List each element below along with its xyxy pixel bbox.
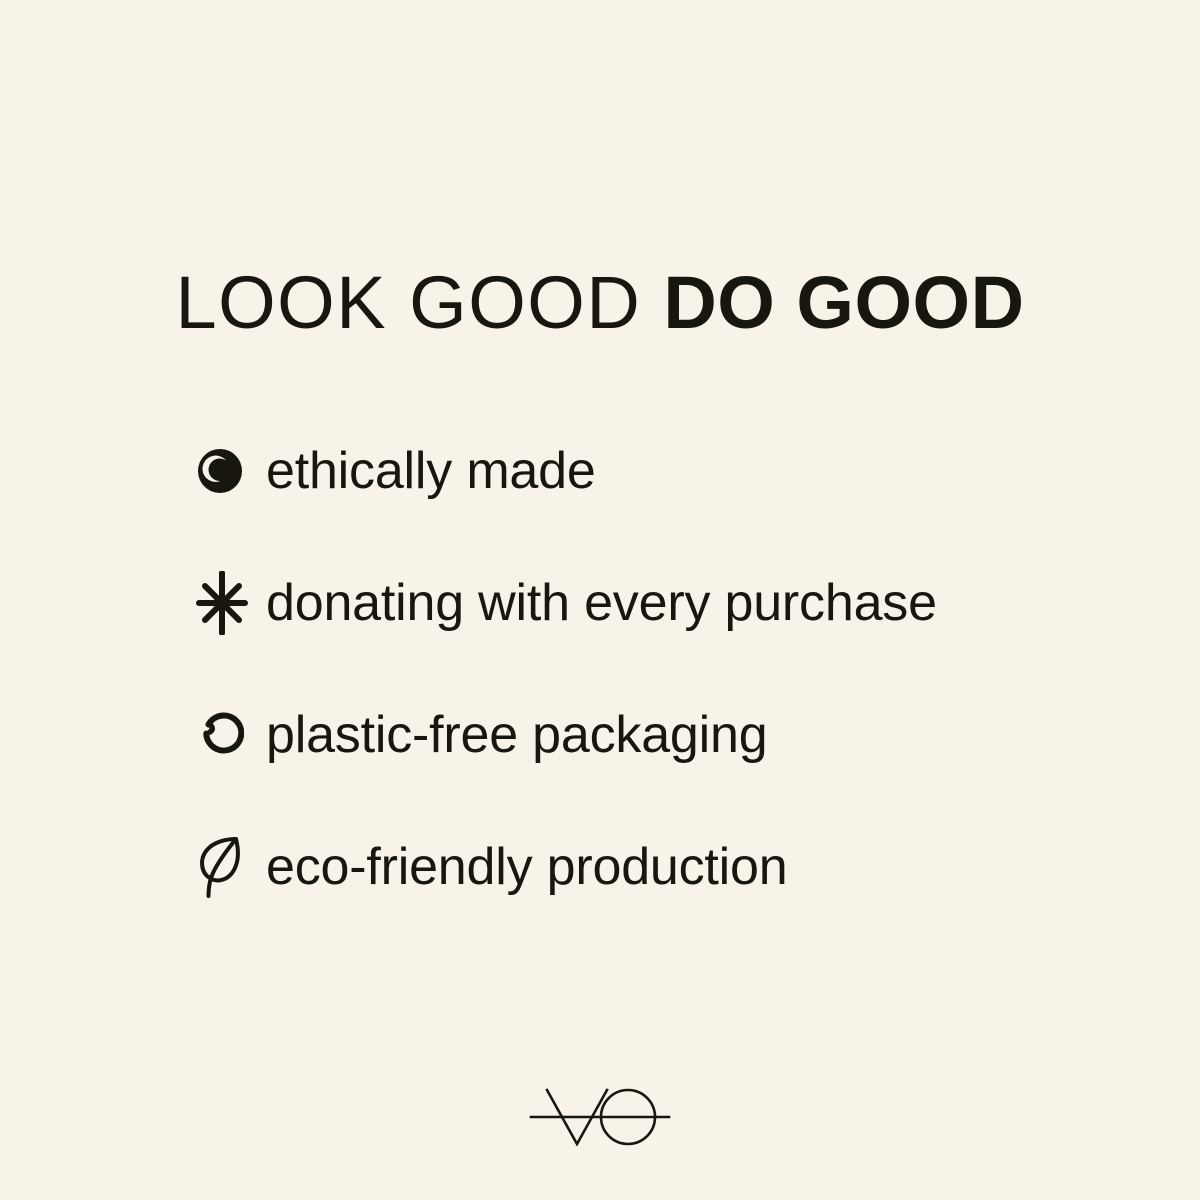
page-title-bold: DO GOOD	[663, 261, 1024, 344]
list-item-label: ethically made	[266, 440, 596, 502]
sparkle-asterisk-icon	[196, 572, 258, 634]
feature-list: ethically made donating with every purch…	[196, 405, 1076, 933]
list-item: ethically made	[196, 405, 1076, 537]
page-title: LOOK GOOD DO GOOD	[0, 258, 1200, 348]
filled-circle-crescent-icon	[196, 440, 258, 502]
list-item: plastic-free packaging	[196, 669, 1076, 801]
page-title-light: LOOK GOOD	[175, 261, 663, 344]
vo-monogram-logo	[525, 1082, 675, 1157]
logo-container	[0, 1082, 1200, 1157]
leaf-icon	[196, 836, 258, 898]
open-loop-circle-icon	[196, 704, 258, 766]
brand-values-card: LOOK GOOD DO GOOD ethically made	[0, 0, 1200, 1200]
list-item-label: donating with every purchase	[266, 572, 937, 634]
list-item-label: eco-friendly production	[266, 836, 787, 898]
list-item: eco-friendly production	[196, 801, 1076, 933]
list-item: donating with every purchase	[196, 537, 1076, 669]
list-item-label: plastic-free packaging	[266, 704, 767, 766]
